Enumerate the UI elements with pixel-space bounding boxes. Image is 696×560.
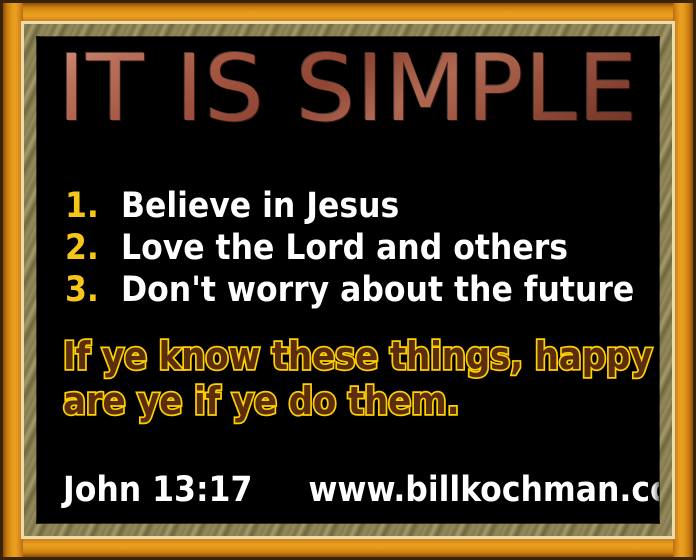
scripture-quote: If ye know these things, happy are ye if… [63, 334, 659, 424]
footer-credit: John 13:17 www.billkochman.com [63, 469, 659, 511]
list-item-number: 1. [65, 185, 121, 227]
list-item: 3. Don't worry about the future [65, 269, 659, 311]
list-item-number: 3. [65, 269, 121, 311]
list-item-label: Believe in Jesus [121, 185, 399, 227]
list-item: 1. Believe in Jesus [65, 185, 659, 227]
scripture-poster: IT IS SIMPLE 1. Believe in Jesus 2. Love… [0, 0, 696, 560]
page-title: IT IS SIMPLE [37, 43, 659, 135]
quote-line-2: are ye if ye do them. [63, 379, 659, 424]
numbered-list: 1. Believe in Jesus 2. Love the Lord and… [65, 185, 659, 311]
list-item: 2. Love the Lord and others [65, 227, 659, 269]
list-item-label: Don't worry about the future [121, 269, 634, 311]
list-item-number: 2. [65, 227, 121, 269]
quote-line-1: If ye know these things, happy [63, 334, 659, 379]
list-item-label: Love the Lord and others [121, 227, 568, 269]
scripture-reference: John 13:17 [63, 470, 252, 510]
poster-black-field: IT IS SIMPLE 1. Believe in Jesus 2. Love… [37, 37, 659, 523]
website-url[interactable]: www.billkochman.com [308, 470, 659, 510]
